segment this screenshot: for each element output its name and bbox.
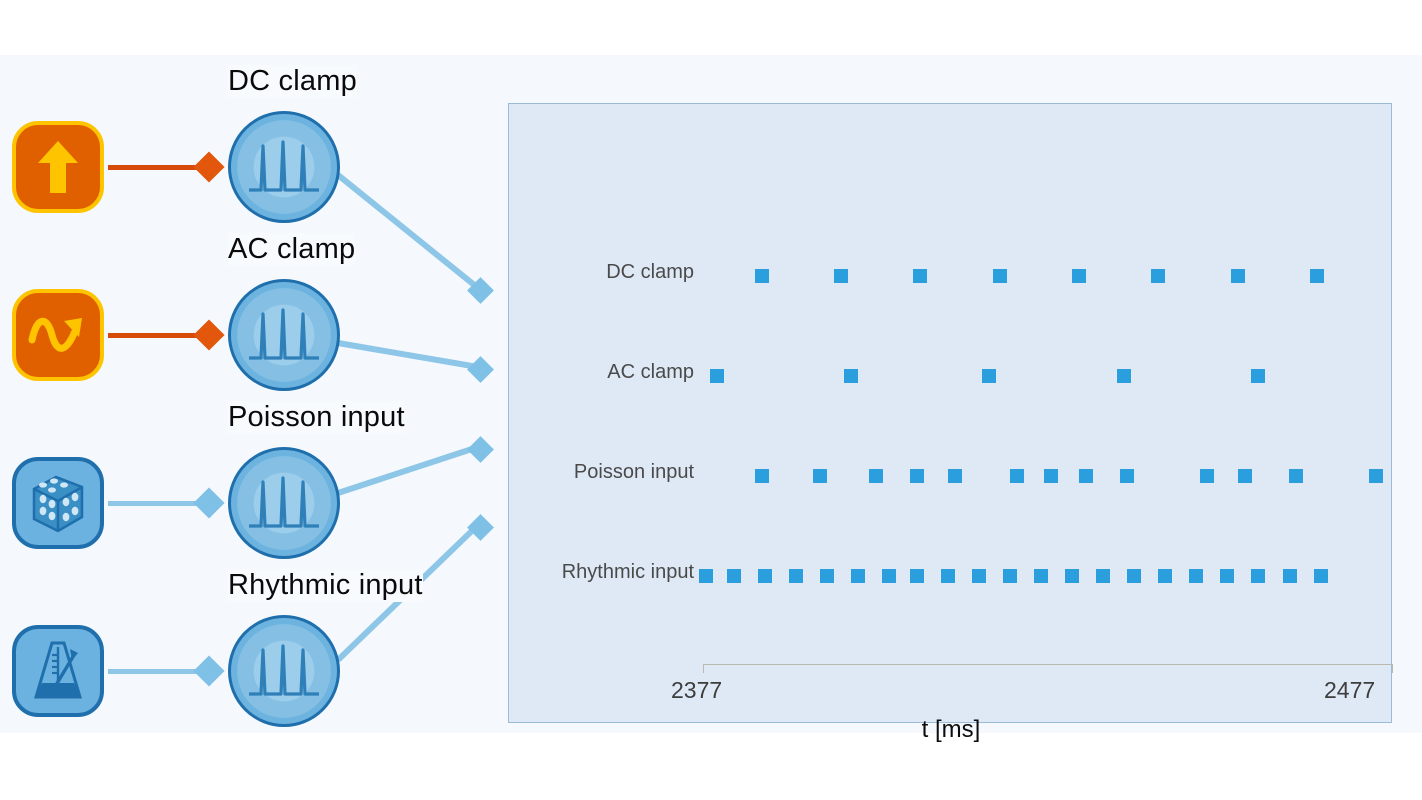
spike-marker bbox=[1158, 569, 1172, 583]
spike-node-rhythmic-input[interactable] bbox=[228, 615, 340, 727]
spike-marker bbox=[1289, 469, 1303, 483]
edge-dc-clamp-to-node bbox=[108, 165, 206, 170]
spike-marker bbox=[972, 569, 986, 583]
spike-marker bbox=[1010, 469, 1024, 483]
edge-arrow-rhythmic bbox=[193, 655, 224, 686]
spike-marker bbox=[913, 269, 927, 283]
source-icon-arrow-up[interactable] bbox=[12, 121, 104, 213]
x-tick-label-max: 2477 bbox=[1324, 677, 1375, 704]
spike-marker bbox=[1200, 469, 1214, 483]
spike-marker bbox=[882, 569, 896, 583]
spike-marker bbox=[993, 269, 1007, 283]
spike-node-dc-clamp[interactable] bbox=[228, 111, 340, 223]
spike-node-poisson-input[interactable] bbox=[228, 447, 340, 559]
spike-marker bbox=[1127, 569, 1141, 583]
spike-marker bbox=[1251, 369, 1265, 383]
spike-marker bbox=[820, 569, 834, 583]
spike-marker bbox=[1369, 469, 1383, 483]
spike-marker bbox=[851, 569, 865, 583]
raster-row-label-dc-clamp: DC clamp bbox=[509, 261, 694, 284]
spike-marker bbox=[755, 469, 769, 483]
spike-marker bbox=[1189, 569, 1203, 583]
spike-marker bbox=[1096, 569, 1110, 583]
node-label-poisson-input: Poisson input bbox=[228, 401, 405, 434]
spike-marker bbox=[1120, 469, 1134, 483]
spike-marker bbox=[1310, 269, 1324, 283]
source-row-ac-clamp[interactable]: AC clamp bbox=[0, 271, 510, 401]
dice-icon bbox=[26, 471, 90, 535]
diagram-canvas: DC clamp AC clamp bbox=[0, 55, 1422, 733]
source-row-poisson-input[interactable]: Poisson input bbox=[0, 439, 510, 569]
spike-marker bbox=[948, 469, 962, 483]
spike-train-icon bbox=[245, 640, 323, 702]
spike-marker bbox=[1003, 569, 1017, 583]
spike-marker bbox=[1079, 469, 1093, 483]
edge-arrow-ac-clamp bbox=[193, 319, 224, 350]
metronome-icon bbox=[28, 639, 88, 703]
spike-marker bbox=[813, 469, 827, 483]
spike-marker bbox=[1314, 569, 1328, 583]
edge-ac-clamp-to-node bbox=[108, 333, 206, 338]
spike-marker bbox=[1231, 269, 1245, 283]
edge-poisson-to-node bbox=[108, 501, 206, 506]
spike-node-ac-clamp[interactable] bbox=[228, 279, 340, 391]
spike-train-icon bbox=[245, 136, 323, 198]
spike-marker bbox=[1251, 569, 1265, 583]
source-icon-metronome[interactable] bbox=[12, 625, 104, 717]
spike-marker bbox=[1220, 569, 1234, 583]
spike-marker bbox=[982, 369, 996, 383]
raster-row-label-rhythmic-input: Rhythmic input bbox=[509, 561, 694, 584]
node-label-dc-clamp: DC clamp bbox=[228, 65, 357, 98]
spike-marker bbox=[710, 369, 724, 383]
x-axis-line bbox=[703, 664, 1393, 673]
spike-marker bbox=[1044, 469, 1058, 483]
spike-marker bbox=[1072, 269, 1086, 283]
spike-train-icon bbox=[245, 472, 323, 534]
edge-arrow-poisson bbox=[193, 487, 224, 518]
spike-marker bbox=[1283, 569, 1297, 583]
source-row-dc-clamp[interactable]: DC clamp bbox=[0, 103, 510, 233]
raster-plot-panel: DC clampAC clampPoisson inputRhythmic in… bbox=[508, 103, 1392, 723]
spike-marker bbox=[758, 569, 772, 583]
source-row-rhythmic-input[interactable]: Rhythmic input bbox=[0, 607, 510, 737]
spike-marker bbox=[699, 569, 713, 583]
spike-marker bbox=[834, 269, 848, 283]
spike-marker bbox=[1034, 569, 1048, 583]
spike-marker bbox=[1117, 369, 1131, 383]
sine-wave-arrow-icon bbox=[27, 310, 89, 360]
spike-marker bbox=[910, 469, 924, 483]
spike-marker bbox=[844, 369, 858, 383]
spike-marker bbox=[1151, 269, 1165, 283]
source-icon-dice[interactable] bbox=[12, 457, 104, 549]
spike-marker bbox=[941, 569, 955, 583]
source-icon-sine-wave[interactable] bbox=[12, 289, 104, 381]
raster-row-label-ac-clamp: AC clamp bbox=[509, 361, 694, 384]
spike-marker bbox=[910, 569, 924, 583]
raster-row-label-poisson-input: Poisson input bbox=[509, 461, 694, 484]
spike-marker bbox=[869, 469, 883, 483]
spike-train-icon bbox=[245, 304, 323, 366]
spike-marker bbox=[755, 269, 769, 283]
node-label-rhythmic-input: Rhythmic input bbox=[228, 569, 423, 602]
x-tick-label-min: 2377 bbox=[671, 677, 722, 704]
edge-rhythmic-to-node bbox=[108, 669, 206, 674]
node-label-ac-clamp: AC clamp bbox=[228, 233, 355, 266]
edge-arrow-dc-clamp bbox=[193, 151, 224, 182]
spike-marker bbox=[1238, 469, 1252, 483]
spike-marker bbox=[789, 569, 803, 583]
spike-marker bbox=[1065, 569, 1079, 583]
arrow-up-icon bbox=[33, 139, 83, 195]
x-axis-label: t [ms] bbox=[509, 716, 1393, 744]
spike-marker bbox=[727, 569, 741, 583]
